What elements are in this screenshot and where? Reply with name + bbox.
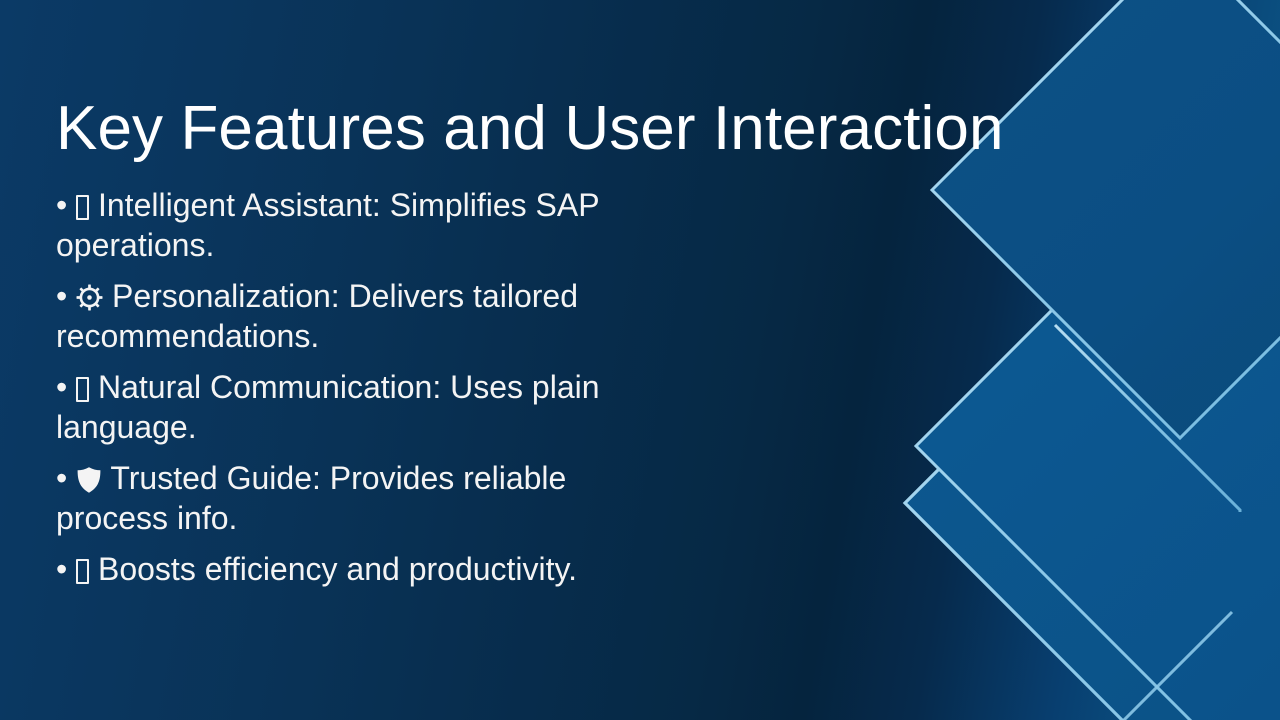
- missing-glyph-box-icon: [76, 195, 89, 220]
- list-item-label: Boosts efficiency and productivity.: [98, 551, 577, 587]
- list-item: • Natural Communication: Uses plain lang…: [56, 368, 656, 447]
- list-item: • Intelligent Assistant: Simplifies SAP …: [56, 186, 656, 265]
- missing-glyph-box-icon: [76, 559, 89, 584]
- diamond-shape-large-right: [905, 88, 1280, 720]
- list-item-label: Natural Communication: Uses plain langua…: [56, 369, 600, 445]
- list-item-label: Personalization: Delivers tailored recom…: [56, 278, 578, 354]
- slide-title: Key Features and User Interaction: [56, 96, 1056, 162]
- shield-icon: [76, 466, 102, 494]
- bullet-marker: •: [56, 460, 67, 496]
- list-item-label: Intelligent Assistant: Simplifies SAP op…: [56, 187, 599, 263]
- presentation-slide: Key Features and User Interaction • Inte…: [0, 0, 1280, 720]
- gear-icon: [76, 284, 103, 311]
- diamond-shape-top-right: [916, 124, 1280, 720]
- list-item: • Trusted Guide: Provides reliable proce…: [56, 459, 656, 538]
- bullet-marker: •: [56, 187, 67, 223]
- bullet-list: • Intelligent Assistant: Simplifies SAP …: [56, 186, 656, 590]
- list-item: • Boosts efficiency and productivity.: [56, 550, 656, 590]
- accent-edge-line-bottom: [1118, 612, 1232, 720]
- accent-edge-line: [1055, 325, 1240, 512]
- bullet-marker: •: [56, 551, 67, 587]
- bullet-marker: •: [56, 278, 67, 314]
- list-item: • Personalization: Delivers tailored rec…: [56, 277, 656, 356]
- missing-glyph-box-icon: [76, 377, 89, 402]
- bullet-marker: •: [56, 369, 67, 405]
- diamond-shape-upper: [932, 0, 1280, 438]
- list-item-label: Trusted Guide: Provides reliable process…: [56, 460, 566, 536]
